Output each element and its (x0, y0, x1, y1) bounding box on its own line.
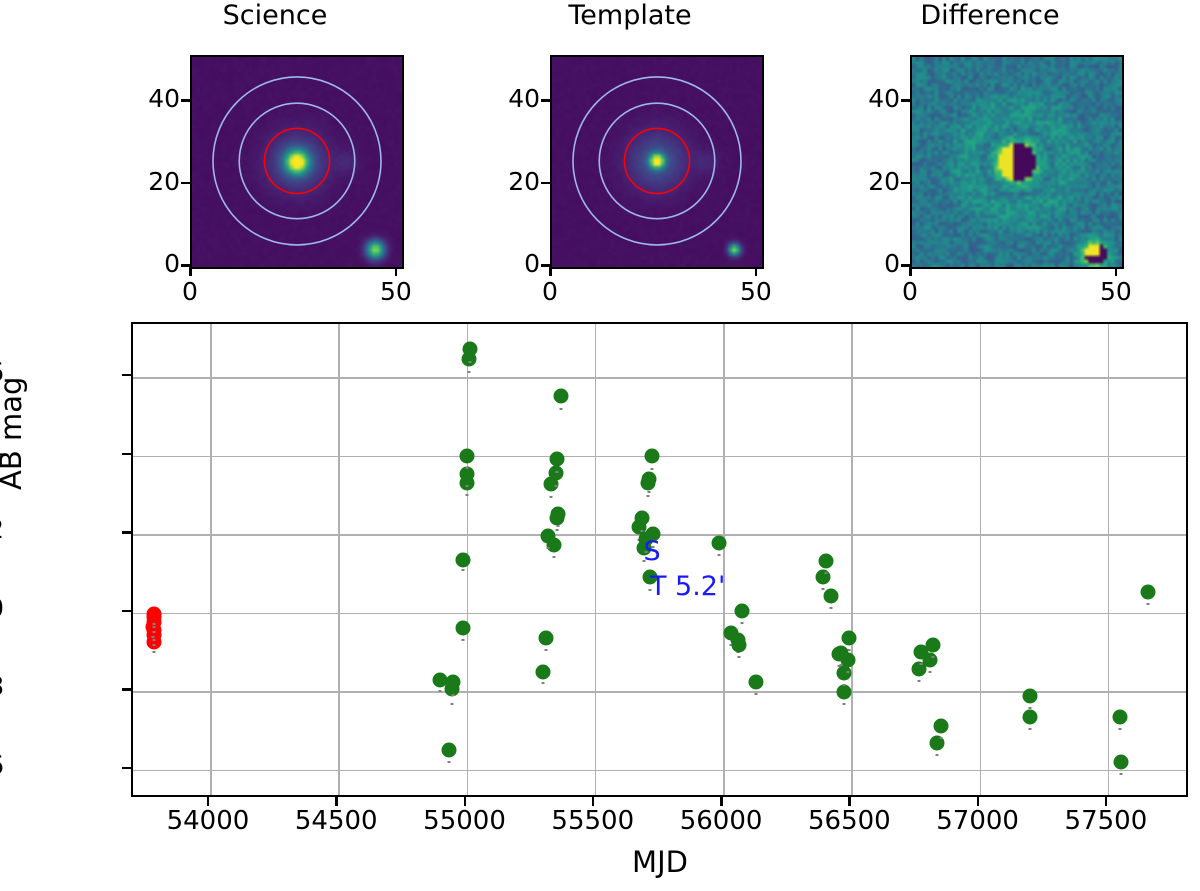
gridline-x-56000 (723, 324, 725, 795)
xtick-mark-55500 (592, 797, 595, 806)
gridline-y-13.0 (133, 613, 1186, 615)
difference-photometry-errorbar (848, 649, 851, 651)
science-cutout-ytick-0: 0 (128, 249, 180, 278)
difference-photometry-errorbar (452, 694, 455, 696)
difference-photometry-errorbar (929, 671, 932, 673)
gridline-x-57500 (1108, 324, 1110, 795)
difference-photometry-point (460, 448, 475, 463)
difference-photometry-errorbar (650, 468, 653, 470)
difference-photometry-errorbar (822, 588, 825, 590)
difference-photometry-errorbar (559, 408, 562, 410)
xtick-label-57500: 57500 (1065, 806, 1148, 836)
science-cutout-apertures (192, 57, 402, 267)
difference-cutout-xtick-0: 0 (880, 277, 940, 306)
gridline-x-56500 (851, 324, 853, 795)
difference-photometry-errorbar (557, 525, 560, 527)
difference-photometry-point (1113, 709, 1128, 724)
difference-photometry-point (455, 552, 470, 567)
difference-photometry-point (441, 742, 456, 757)
difference-cutout-frame (910, 55, 1124, 269)
difference-photometry-point (551, 506, 566, 521)
ytick-mark-13.6 (122, 374, 131, 377)
difference-photometry-errorbar (465, 485, 468, 487)
ytick-mark-12.8 (122, 688, 131, 691)
difference-photometry-errorbar (465, 494, 468, 496)
science-cutout-source-aperture (264, 128, 329, 193)
xtick-mark-57500 (1105, 797, 1108, 806)
difference-cutout-xtick-50: 50 (1086, 277, 1146, 306)
ytick-label-12.8: 12.8 (0, 672, 4, 702)
xtick-mark-56000 (720, 797, 723, 806)
science-cutout-xtick-0: 0 (160, 277, 220, 306)
difference-photometry-point (644, 449, 659, 464)
difference-photometry-errorbar (839, 664, 842, 666)
difference-photometry-errorbar (468, 361, 471, 363)
difference-photometry-point (462, 341, 477, 356)
difference-photometry-errorbar (547, 547, 550, 549)
difference-photometry-point (731, 637, 746, 652)
reference-epoch-errorbar (152, 644, 155, 646)
xtick-label-54500: 54500 (295, 806, 378, 836)
difference-photometry-errorbar (646, 495, 649, 497)
difference-photometry-errorbar (1146, 603, 1149, 605)
template-cutout-ytickmark-20 (541, 182, 550, 185)
difference-photometry-point (823, 589, 838, 604)
science-cutout-xtickmark-0 (189, 267, 192, 276)
difference-cutout-image (912, 57, 1122, 267)
difference-photometry-errorbar (461, 569, 464, 571)
xtick-mark-54500 (335, 797, 338, 806)
difference-photometry-errorbar (545, 649, 548, 651)
template-cutout-outer-sky-annulus (573, 77, 741, 245)
thumbnail-title-science: Science (130, 0, 420, 31)
difference-photometry-errorbar (461, 639, 464, 641)
template-cutout-xtick-0: 0 (520, 277, 580, 306)
xtick-label-56000: 56000 (680, 806, 763, 836)
difference-photometry-point (553, 388, 568, 403)
difference-photometry-errorbar (824, 572, 827, 574)
ytick-label-13.0: 13.0 (0, 594, 4, 624)
ytick-label-12.6: 12.6 (0, 751, 4, 781)
difference-photometry-errorbar (741, 622, 744, 624)
reference-epoch-errorbar (152, 631, 155, 633)
reference-epoch-errorbar (152, 651, 155, 653)
template-cutout-ytick-40: 40 (488, 84, 540, 113)
annotation-t: T 5.2' (650, 571, 725, 602)
y-axis-label: AB mag (0, 377, 28, 490)
template-cutout-inner-sky-annulus (599, 103, 715, 219)
reference-epoch-errorbar (153, 623, 156, 625)
difference-cutout-xtickmark-0 (909, 267, 912, 276)
difference-photometry-point (634, 511, 649, 526)
science-cutout-inner-sky-annulus (239, 103, 355, 219)
difference-photometry-errorbar (829, 607, 832, 609)
difference-photometry-errorbar (737, 656, 740, 658)
difference-photometry-point (712, 535, 727, 550)
difference-photometry-errorbar (447, 761, 450, 763)
difference-photometry-errorbar (917, 680, 920, 682)
difference-photometry-point (1023, 688, 1038, 703)
difference-photometry-errorbar (438, 690, 441, 692)
difference-photometry-errorbar (1028, 728, 1031, 730)
template-cutout-ytickmark-40 (541, 99, 550, 102)
difference-photometry-point (539, 631, 554, 646)
gridline-x-54000 (210, 324, 212, 795)
gridline-y-12.6 (133, 770, 1186, 772)
ytick-mark-13.4 (122, 453, 131, 456)
difference-photometry-errorbar (939, 737, 942, 739)
difference-photometry-point (1022, 709, 1037, 724)
template-cutout-source-aperture (624, 128, 689, 193)
difference-photometry-point (837, 684, 852, 699)
difference-photometry-errorbar (648, 491, 651, 493)
science-cutout-ytick-20: 20 (128, 167, 180, 196)
ytick-mark-13.0 (122, 610, 131, 613)
difference-photometry-errorbar (550, 496, 553, 498)
difference-cutout-xtickmark-50 (1115, 267, 1118, 276)
gridline-y-13.6 (133, 377, 1186, 379)
difference-photometry-point (923, 653, 938, 668)
difference-photometry-errorbar (1029, 707, 1032, 709)
xtick-mark-56500 (848, 797, 851, 806)
light-curve-axes: T 5.2'S (131, 322, 1188, 797)
reference-epoch-errorbar (153, 639, 156, 641)
difference-cutout-ytickmark-20 (901, 182, 910, 185)
xtick-mark-55000 (464, 797, 467, 806)
xtick-label-57000: 57000 (936, 806, 1019, 836)
xtick-label-54000: 54000 (167, 806, 250, 836)
difference-photometry-errorbar (542, 682, 545, 684)
difference-photometry-errorbar (451, 703, 454, 705)
difference-photometry-errorbar (935, 754, 938, 756)
template-cutout-xtick-50: 50 (726, 277, 786, 306)
science-cutout-ytick-40: 40 (128, 84, 180, 113)
xtick-mark-54000 (207, 797, 210, 806)
reference-epoch-errorbar (152, 626, 155, 628)
difference-photometry-errorbar (555, 471, 558, 473)
difference-photometry-errorbar (842, 684, 845, 686)
difference-photometry-errorbar (552, 556, 555, 558)
reference-epoch-errorbar (152, 636, 155, 638)
xtick-label-55500: 55500 (551, 806, 634, 836)
ytick-label-13.2: 13.2 (0, 515, 4, 545)
difference-photometry-errorbar (755, 693, 758, 695)
ytick-mark-13.2 (122, 531, 131, 534)
difference-photometry-errorbar (468, 371, 471, 373)
difference-photometry-errorbar (718, 554, 721, 556)
difference-photometry-point (749, 675, 764, 690)
difference-photometry-errorbar (554, 485, 557, 487)
xtick-label-56500: 56500 (808, 806, 891, 836)
astronomy-figure: Science Template Difference 020400500204… (0, 0, 1200, 891)
difference-photometry-point (833, 645, 848, 660)
difference-photometry-errorbar (931, 656, 934, 658)
science-cutout-ytickmark-40 (181, 99, 190, 102)
difference-photometry-errorbar (1120, 773, 1123, 775)
difference-photometry-point (446, 675, 461, 690)
template-cutout-frame (550, 55, 764, 269)
difference-photometry-point (1140, 585, 1155, 600)
difference-photometry-errorbar (847, 671, 850, 673)
gridline-x-57000 (980, 324, 982, 795)
science-cutout-xtick-50: 50 (366, 277, 426, 306)
template-cutout-ytick-20: 20 (488, 167, 540, 196)
science-cutout-outer-sky-annulus (213, 77, 381, 245)
difference-photometry-point (842, 631, 857, 646)
difference-photometry-point (816, 570, 831, 585)
thumbnail-title-difference: Difference (845, 0, 1135, 31)
xtick-label-55000: 55000 (423, 806, 506, 836)
template-cutout-xtickmark-0 (549, 267, 552, 276)
difference-photometry-point (933, 718, 948, 733)
template-cutout-ytick-0: 0 (488, 249, 540, 278)
template-cutout-apertures (552, 57, 762, 267)
difference-cutout-ytick-40: 40 (848, 84, 900, 113)
gridline-y-13.4 (133, 456, 1186, 458)
x-axis-label: MJD (0, 845, 1200, 879)
difference-photometry-point (925, 637, 940, 652)
difference-photometry-point (549, 452, 564, 467)
difference-photometry-errorbar (555, 529, 558, 531)
gridline-x-55500 (595, 324, 597, 795)
reference-epoch-point (147, 607, 162, 622)
difference-photometry-point (642, 472, 657, 487)
difference-photometry-point (536, 665, 551, 680)
difference-photometry-point (459, 467, 474, 482)
template-cutout-xtickmark-50 (755, 267, 758, 276)
annotation-s: S (644, 536, 661, 567)
difference-photometry-errorbar (919, 663, 922, 665)
difference-photometry-point (541, 528, 556, 543)
difference-photometry-point (1114, 754, 1129, 769)
difference-photometry-point (735, 603, 750, 618)
difference-cutout-ytick-20: 20 (848, 167, 900, 196)
science-cutout-frame (190, 55, 404, 269)
gridline-x-54500 (338, 324, 340, 795)
difference-photometry-point (818, 553, 833, 568)
difference-cutout-ytick-0: 0 (848, 249, 900, 278)
difference-photometry-errorbar (843, 703, 846, 705)
difference-photometry-errorbar (1119, 728, 1122, 730)
ytick-mark-12.6 (122, 767, 131, 770)
difference-photometry-point (455, 621, 470, 636)
difference-photometry-errorbar (466, 467, 469, 469)
science-cutout-xtickmark-50 (395, 267, 398, 276)
science-cutout-ytickmark-20 (181, 182, 190, 185)
xtick-mark-57000 (977, 797, 980, 806)
thumbnail-title-template: Template (485, 0, 775, 31)
difference-cutout-ytickmark-40 (901, 99, 910, 102)
